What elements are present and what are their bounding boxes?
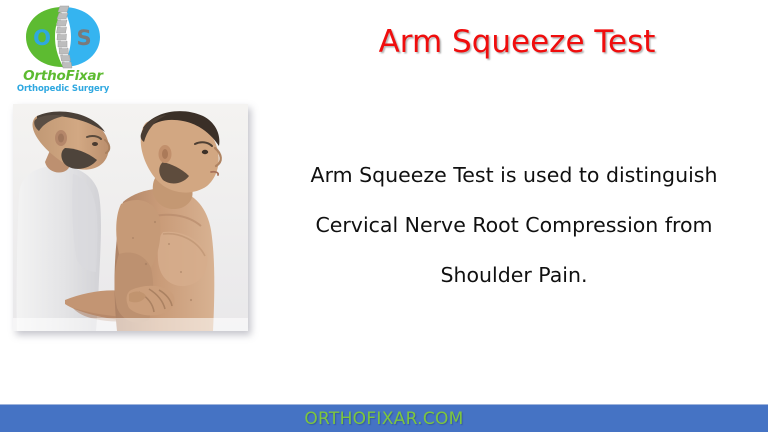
orthofixar-logo-icon: O S xyxy=(16,5,110,69)
arm-squeeze-test-photo xyxy=(13,104,248,331)
footer-bar: ORTHOFIXAR.COM xyxy=(0,404,768,432)
brand-logo[interactable]: O S OrthoFixar Orthopedic Surgery xyxy=(4,2,122,100)
description-line-3: Shoulder Pain. xyxy=(266,250,762,300)
footer-website-label[interactable]: ORTHOFIXAR.COM xyxy=(304,409,463,429)
clinical-photo-frame xyxy=(13,104,248,331)
svg-text:O: O xyxy=(33,26,51,50)
logo-brand-name: OrthoFixar xyxy=(4,68,122,84)
page-title: Arm Squeeze Test xyxy=(268,24,766,60)
description-text: Arm Squeeze Test is used to distinguish … xyxy=(266,150,762,300)
svg-text:S: S xyxy=(76,26,91,50)
description-line-1: Arm Squeeze Test is used to distinguish xyxy=(266,150,762,200)
slide-canvas: O S OrthoFixar Orthopedic Surgery Arm Sq… xyxy=(0,0,768,432)
logo-tagline: Orthopedic Surgery xyxy=(4,84,122,94)
description-line-2: Cervical Nerve Root Compression from xyxy=(266,200,762,250)
